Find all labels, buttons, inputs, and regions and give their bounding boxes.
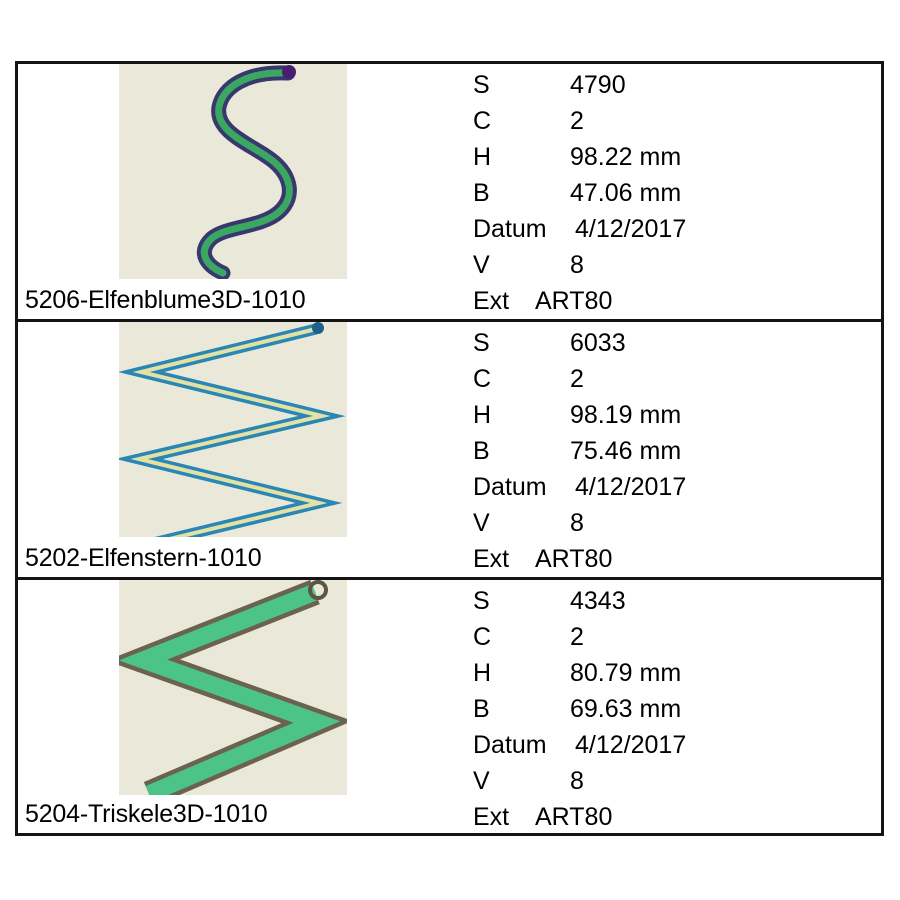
spec-value-version: 8 [570, 247, 584, 283]
spec-row-version: V 8 [442, 763, 881, 799]
spec-value-width: 47.06 mm [570, 175, 681, 211]
design-spec-list: S 4790 C 2 H 98.22 mm B 47.06 mm Datum 4… [442, 64, 881, 319]
spec-value-colors: 2 [570, 361, 584, 397]
sharp-zigzag-thin-artwork [119, 322, 347, 537]
design-artwork-swatch [119, 580, 347, 795]
design-artwork-swatch [119, 64, 347, 279]
design-name-label: 5204-Triskele3D-1010 [25, 802, 267, 827]
spec-row-width: B 47.06 mm [442, 175, 881, 211]
spec-row-colors: C 2 [442, 619, 881, 655]
spec-value-stitches: 4343 [570, 583, 626, 619]
spec-value-height: 98.22 mm [570, 139, 681, 175]
spec-row-stitches: S 4343 [442, 583, 881, 619]
spec-key-height: H [473, 397, 491, 433]
sharp-zigzag-thick-artwork [119, 580, 347, 795]
spec-value-stitches: 4790 [570, 67, 626, 103]
spec-key-version: V [473, 763, 490, 799]
spec-key-width: B [473, 175, 490, 211]
spec-value-date: 4/12/2017 [575, 727, 686, 763]
serpentine-s-curve-artwork [119, 64, 347, 279]
spec-row-width: B 75.46 mm [442, 433, 881, 469]
spec-key-date: Datum [473, 469, 547, 505]
spec-value-format: ART80 [535, 799, 612, 833]
spec-key-date: Datum [473, 211, 547, 247]
embroidery-design-catalog: 5206-Elfenblume3D-1010 S 4790 C 2 H 98.2… [15, 61, 884, 836]
spec-row-date: Datum 4/12/2017 [442, 211, 881, 247]
design-row[interactable]: 5204-Triskele3D-1010 S 4343 C 2 H 80.79 … [18, 580, 881, 833]
spec-key-version: V [473, 247, 490, 283]
spec-value-format: ART80 [535, 541, 612, 577]
spec-key-stitches: S [473, 583, 490, 619]
spec-key-format: Ext [473, 541, 509, 577]
spec-key-colors: C [473, 361, 491, 397]
spec-row-height: H 80.79 mm [442, 655, 881, 691]
spec-row-format: Ext ART80 [442, 541, 881, 577]
spec-key-version: V [473, 505, 490, 541]
spec-key-format: Ext [473, 799, 509, 833]
spec-value-date: 4/12/2017 [575, 469, 686, 505]
spec-row-height: H 98.22 mm [442, 139, 881, 175]
design-name-label: 5206-Elfenblume3D-1010 [25, 288, 306, 313]
design-name-label: 5202-Elfenstern-1010 [25, 546, 261, 571]
design-endpoint-dot [282, 65, 296, 79]
spec-key-colors: C [473, 619, 491, 655]
spec-value-format: ART80 [535, 283, 612, 319]
design-endpoint-dot [312, 322, 324, 334]
spec-key-date: Datum [473, 727, 547, 763]
spec-row-width: B 69.63 mm [442, 691, 881, 727]
spec-key-width: B [473, 691, 490, 727]
spec-key-height: H [473, 139, 491, 175]
spec-value-colors: 2 [570, 103, 584, 139]
spec-key-stitches: S [473, 67, 490, 103]
spec-row-date: Datum 4/12/2017 [442, 727, 881, 763]
design-row[interactable]: 5206-Elfenblume3D-1010 S 4790 C 2 H 98.2… [18, 64, 881, 322]
design-preview-cell: 5204-Triskele3D-1010 [18, 580, 442, 833]
spec-value-width: 69.63 mm [570, 691, 681, 727]
design-row[interactable]: 5202-Elfenstern-1010 S 6033 C 2 H 98.19 … [18, 322, 881, 580]
spec-row-colors: C 2 [442, 103, 881, 139]
spec-row-version: V 8 [442, 247, 881, 283]
spec-row-colors: C 2 [442, 361, 881, 397]
design-preview-cell: 5206-Elfenblume3D-1010 [18, 64, 442, 319]
spec-value-version: 8 [570, 763, 584, 799]
spec-row-date: Datum 4/12/2017 [442, 469, 881, 505]
spec-row-stitches: S 4790 [442, 67, 881, 103]
spec-key-stitches: S [473, 325, 490, 361]
spec-row-stitches: S 6033 [442, 325, 881, 361]
spec-value-height: 80.79 mm [570, 655, 681, 691]
spec-value-version: 8 [570, 505, 584, 541]
spec-value-date: 4/12/2017 [575, 211, 686, 247]
spec-key-height: H [473, 655, 491, 691]
spec-row-format: Ext ART80 [442, 283, 881, 319]
spec-value-width: 75.46 mm [570, 433, 681, 469]
spec-key-colors: C [473, 103, 491, 139]
design-spec-list: S 4343 C 2 H 80.79 mm B 69.63 mm Datum 4… [442, 580, 881, 833]
spec-value-stitches: 6033 [570, 325, 626, 361]
spec-value-height: 98.19 mm [570, 397, 681, 433]
spec-row-version: V 8 [442, 505, 881, 541]
design-spec-list: S 6033 C 2 H 98.19 mm B 75.46 mm Datum 4… [442, 322, 881, 577]
spec-value-colors: 2 [570, 619, 584, 655]
design-artwork-swatch [119, 322, 347, 537]
spec-key-width: B [473, 433, 490, 469]
spec-key-format: Ext [473, 283, 509, 319]
spec-row-height: H 98.19 mm [442, 397, 881, 433]
spec-row-format: Ext ART80 [442, 799, 881, 833]
design-preview-cell: 5202-Elfenstern-1010 [18, 322, 442, 577]
